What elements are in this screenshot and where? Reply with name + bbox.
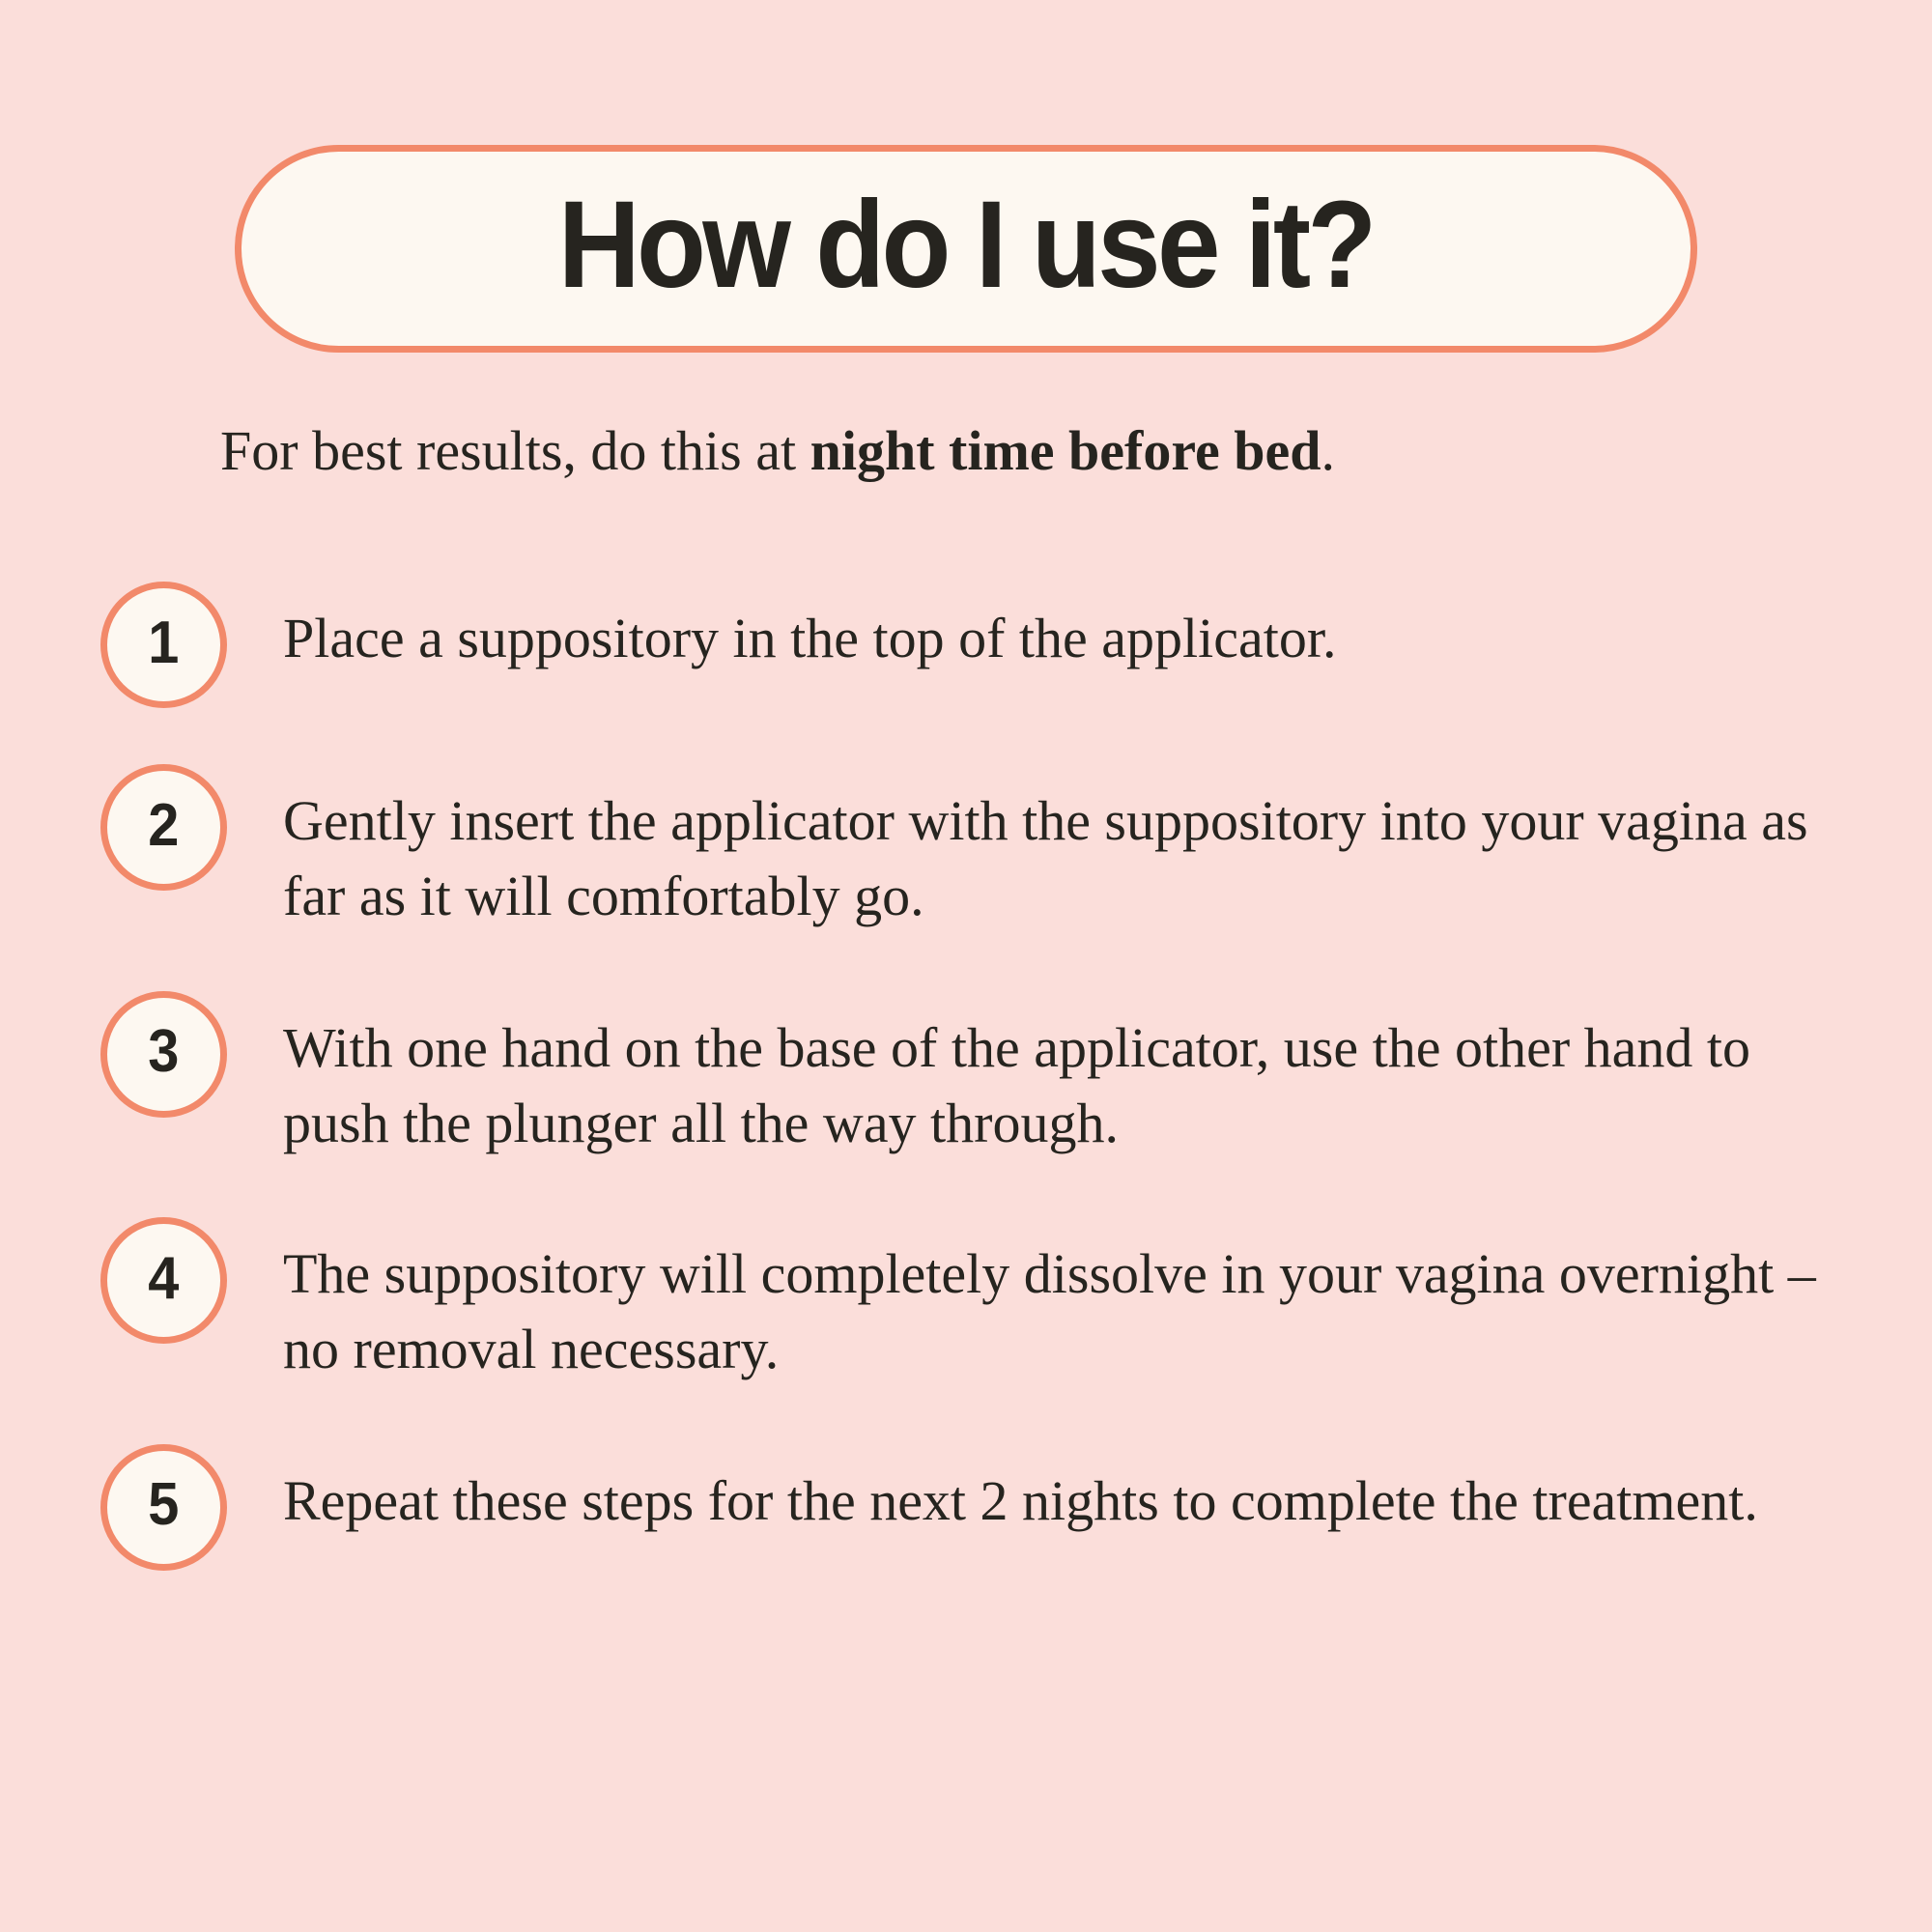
step-badge-1: 1 (100, 582, 227, 708)
step-text: Repeat these steps for the next 2 nights… (283, 1442, 1829, 1539)
subtitle-lead: For best results, do this at (220, 419, 810, 482)
step-text: With one hand on the base of the applica… (283, 989, 1829, 1162)
list-item: 3 With one hand on the base of the appli… (0, 989, 1932, 1162)
step-text: Place a suppository in the top of the ap… (283, 580, 1829, 676)
list-item: 2 Gently insert the applicator with the … (0, 762, 1932, 935)
page-title: How do I use it? (558, 184, 1374, 315)
step-number: 5 (148, 1475, 179, 1539)
step-badge-4: 4 (100, 1217, 227, 1344)
step-badge-3: 3 (100, 991, 227, 1118)
steps-list: 1 Place a suppository in the top of the … (0, 580, 1932, 1571)
list-item: 1 Place a suppository in the top of the … (0, 580, 1932, 708)
step-number: 2 (148, 796, 179, 860)
heading-pill: How do I use it? (235, 145, 1697, 353)
subtitle-emphasis: night time before bed (810, 419, 1321, 482)
step-number: 1 (148, 613, 179, 677)
instruction-card: How do I use it? For best results, do th… (0, 0, 1932, 1932)
step-text: Gently insert the applicator with the su… (283, 762, 1829, 935)
step-number: 4 (148, 1249, 179, 1313)
list-item: 5 Repeat these steps for the next 2 nigh… (0, 1442, 1932, 1571)
subtitle-trail: . (1321, 419, 1336, 482)
step-text: The suppository will completely dissolve… (283, 1215, 1829, 1388)
step-badge-5: 5 (100, 1444, 227, 1571)
list-item: 4 The suppository will completely dissol… (0, 1215, 1932, 1388)
subtitle: For best results, do this at night time … (220, 419, 1766, 484)
step-number: 3 (148, 1022, 179, 1086)
step-badge-2: 2 (100, 764, 227, 891)
